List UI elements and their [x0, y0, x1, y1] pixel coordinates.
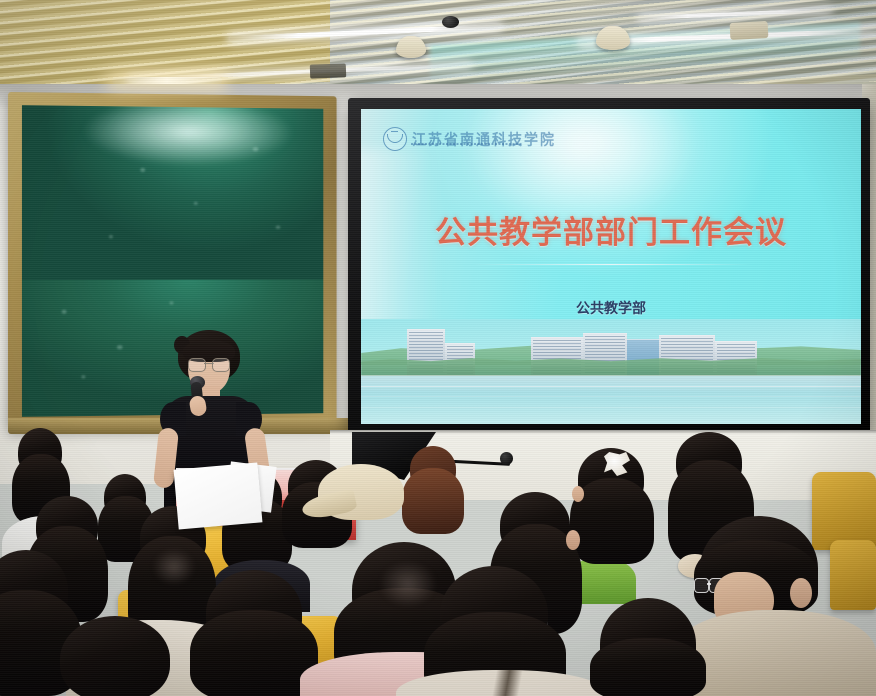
photo-water-reflection — [361, 376, 861, 398]
presenter-paper — [174, 462, 263, 529]
university-logo: 江苏省南通科技学院 — [383, 127, 556, 151]
university-logo-text: 江苏省南通科技学院 — [412, 128, 556, 149]
ceiling-vent — [310, 63, 346, 78]
ceiling-camera-icon — [442, 16, 459, 28]
projection-screen[interactable]: 江苏省南通科技学院 公共教学部部门工作会议 公共教学部 2025年9月23日 — [361, 109, 861, 424]
seat — [812, 472, 876, 550]
presenter-glasses-icon — [188, 358, 230, 370]
seat — [830, 540, 876, 610]
university-logo-subline — [411, 143, 523, 145]
classroom-meeting-photo: 江苏省南通科技学院 公共教学部部门工作会议 公共教学部 2025年9月23日 — [0, 0, 876, 696]
slide-divider — [471, 264, 751, 265]
blackboard-lamp — [112, 77, 222, 84]
slide-title: 公共教学部部门工作会议 — [361, 207, 861, 252]
blackboard-glare — [81, 105, 294, 167]
audience-head — [60, 616, 170, 696]
slide-campus-photo — [361, 319, 861, 424]
slide-department: 公共教学部 — [361, 299, 861, 319]
audience-cap — [318, 464, 408, 522]
photo-water — [361, 376, 861, 424]
university-emblem-icon — [383, 127, 407, 151]
audience-ear — [572, 486, 584, 502]
audience-hair — [590, 638, 706, 696]
audience — [0, 420, 876, 696]
ceiling-fixture-box — [730, 21, 769, 40]
ceiling-dome-speaker-1 — [396, 36, 426, 58]
audience-hair — [402, 468, 464, 534]
audience-ear — [566, 530, 580, 550]
ceiling-dome-speaker-2 — [596, 26, 630, 50]
audience-hair — [190, 610, 318, 696]
blackboard-panel-top — [22, 105, 323, 287]
audience-ear — [790, 578, 812, 608]
